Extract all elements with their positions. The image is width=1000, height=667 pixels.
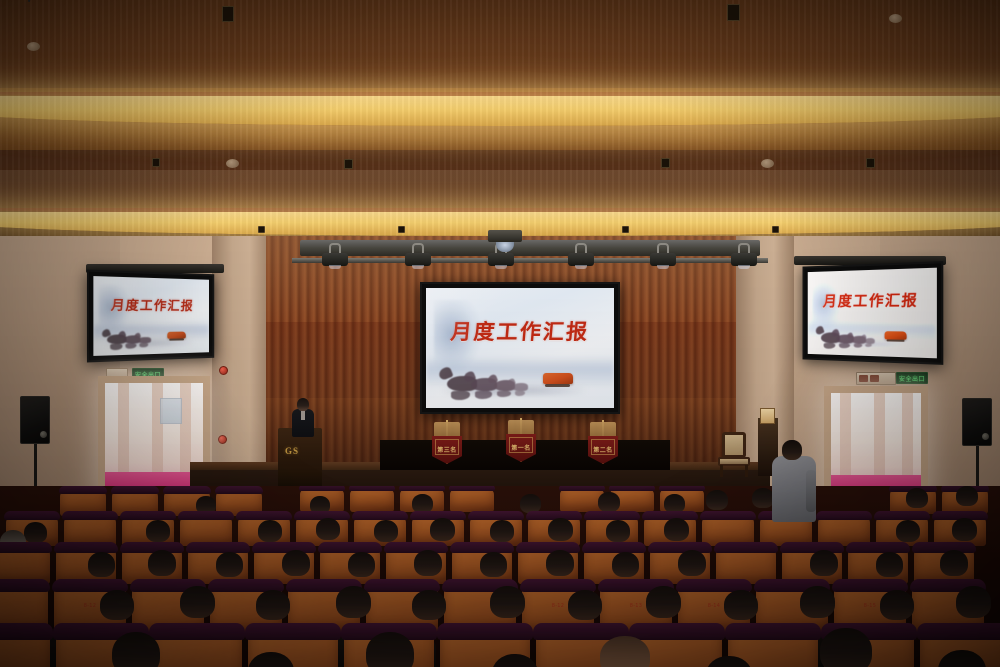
audience-head (800, 586, 835, 618)
audience-head (664, 518, 689, 541)
audience-head (374, 520, 398, 542)
audience-head (24, 522, 47, 543)
left-projection-screen[interactable]: 月度工作汇报 (87, 270, 214, 363)
right-wall-control-plate[interactable] (856, 372, 896, 385)
audience-head (820, 628, 872, 667)
audience-head (956, 586, 991, 618)
audience-head (520, 494, 541, 513)
right-screen-surface: 月度工作汇报 (808, 268, 937, 359)
stage-spotlight (322, 253, 348, 266)
lighting-truss (300, 240, 760, 256)
plate-indicator-icon (859, 375, 868, 382)
ceiling-vent-icon (622, 226, 629, 233)
audience-head (430, 518, 455, 541)
ceiling-speaker-icon (27, 42, 40, 51)
red-cart-figure (543, 373, 573, 384)
stage-spotlight (650, 253, 676, 266)
audience-head (112, 632, 160, 667)
audience-head (664, 494, 685, 513)
truss-rail (292, 258, 768, 263)
stage-spotlight (568, 253, 594, 266)
seat[interactable] (350, 488, 394, 512)
stage-spotlight (731, 253, 757, 266)
pennant-label: 第二名 (588, 445, 618, 454)
audience-head (100, 590, 134, 620)
left-screen-surface: 月度工作汇报 (93, 276, 209, 356)
standing-attendee-arm (806, 470, 816, 512)
audience-head (752, 488, 774, 508)
horse-figure (864, 338, 875, 344)
ceiling-speaker-icon (889, 14, 902, 23)
audience-head (282, 550, 310, 576)
right-projection-screen[interactable]: 月度工作汇报 (803, 261, 944, 365)
ceiling-projector (488, 230, 522, 242)
podium-emblem: GS (285, 446, 299, 456)
stage-spotlight (405, 253, 431, 266)
audience-head (706, 490, 728, 510)
chair-leg (720, 465, 723, 477)
ceiling-vent-icon (398, 226, 405, 233)
fire-call-point-icon[interactable] (218, 435, 227, 444)
ceiling-speaker-icon (761, 159, 774, 168)
slide-artwork (93, 276, 209, 356)
ceiling-vent-icon (772, 226, 779, 233)
main-screen-surface: 月度工作汇报 (426, 288, 614, 408)
chair-backrest (722, 432, 746, 458)
audience-head (646, 586, 681, 618)
audience-head (880, 590, 914, 620)
main-projection-screen[interactable]: 月度工作汇报 (420, 282, 620, 414)
ceiling-panel-upper (0, 0, 1000, 100)
ceiling-speaker-icon (226, 159, 239, 168)
audience-head (412, 590, 446, 620)
ceiling-vent-icon (258, 226, 265, 233)
audience-head (598, 492, 620, 512)
pennant-label: 第一名 (506, 443, 536, 452)
audience-head (906, 488, 928, 508)
audience-head (876, 552, 903, 577)
audience-head (180, 586, 215, 618)
exit-sign-label: 安全出口 (899, 374, 925, 383)
ceiling-vent-icon (344, 159, 353, 169)
stage-lamp (760, 408, 775, 424)
chair-leg (745, 465, 748, 477)
audience-head (258, 520, 282, 542)
pennant-header (590, 422, 616, 437)
horse-figure (138, 337, 151, 344)
red-cart-figure (168, 332, 186, 339)
audience-head (600, 636, 650, 667)
audience-head (612, 552, 639, 577)
seat[interactable] (450, 488, 494, 512)
seat[interactable] (0, 632, 50, 667)
audience-head (490, 586, 525, 618)
auditorium-scene: 月度工作汇报 月度工作汇报 安全出口 (0, 0, 1000, 667)
stage-spotlight (488, 253, 514, 266)
audience-head (216, 552, 243, 577)
pennant-header (434, 422, 460, 437)
slide-artwork (808, 268, 937, 359)
audience-head (952, 518, 977, 541)
standing-attendee (772, 440, 816, 520)
plate-indicator-icon (870, 375, 879, 382)
pennant-header (508, 420, 534, 435)
standing-attendee-head (782, 440, 802, 460)
audience-head (896, 520, 920, 542)
pa-speaker-right (962, 398, 992, 446)
exit-sign-right: 安全出口 (896, 372, 928, 384)
slide-title: 月度工作汇报 (426, 316, 614, 346)
horse-figure (512, 383, 528, 391)
audience-head (256, 590, 290, 620)
audience-head (414, 550, 442, 576)
audience-head (956, 486, 978, 506)
presenter (292, 398, 314, 436)
seat[interactable] (152, 632, 242, 667)
speaker-podium: GS (278, 428, 322, 490)
slide-title: 月度工作汇报 (808, 288, 937, 310)
presenter-head (297, 398, 309, 411)
audience-head (348, 552, 375, 577)
audience-head (810, 550, 838, 576)
ceiling-vent-icon (152, 158, 160, 167)
audience-head (940, 550, 968, 576)
audience-seating-area: 8-12 8-12 8-13 8-14 8-15 (0, 486, 1000, 667)
ceiling-vent-icon (727, 4, 740, 21)
slide-artwork (426, 288, 614, 408)
audience-head (480, 552, 507, 577)
audience-head (366, 632, 414, 667)
audience-head (146, 520, 170, 542)
audience-head (724, 590, 758, 620)
audience-head (336, 586, 371, 618)
alarm-button-icon[interactable] (219, 366, 228, 375)
pennant-label: 第三名 (432, 445, 462, 454)
right-door-frame (824, 386, 928, 502)
audience-head (148, 550, 176, 576)
audience-head (412, 494, 433, 513)
audience-head (548, 518, 573, 541)
cove-light-upper (0, 96, 1000, 126)
audience-head (568, 590, 602, 620)
red-cart-figure (885, 331, 906, 339)
slide-title: 月度工作汇报 (93, 294, 209, 314)
pa-speaker-left (20, 396, 50, 444)
audience-head (546, 550, 574, 576)
stage-armchair (718, 432, 750, 476)
ceiling (0, 0, 1000, 250)
ceiling-vent-icon (222, 6, 234, 22)
presenter-shirt (301, 411, 305, 420)
audience-head (490, 520, 514, 542)
ceiling-vent-icon (866, 158, 875, 168)
ceiling-vent-icon (661, 158, 670, 168)
audience-head (606, 520, 630, 542)
audience-head (316, 518, 340, 540)
audience-head (88, 552, 115, 577)
audience-head (678, 550, 706, 576)
